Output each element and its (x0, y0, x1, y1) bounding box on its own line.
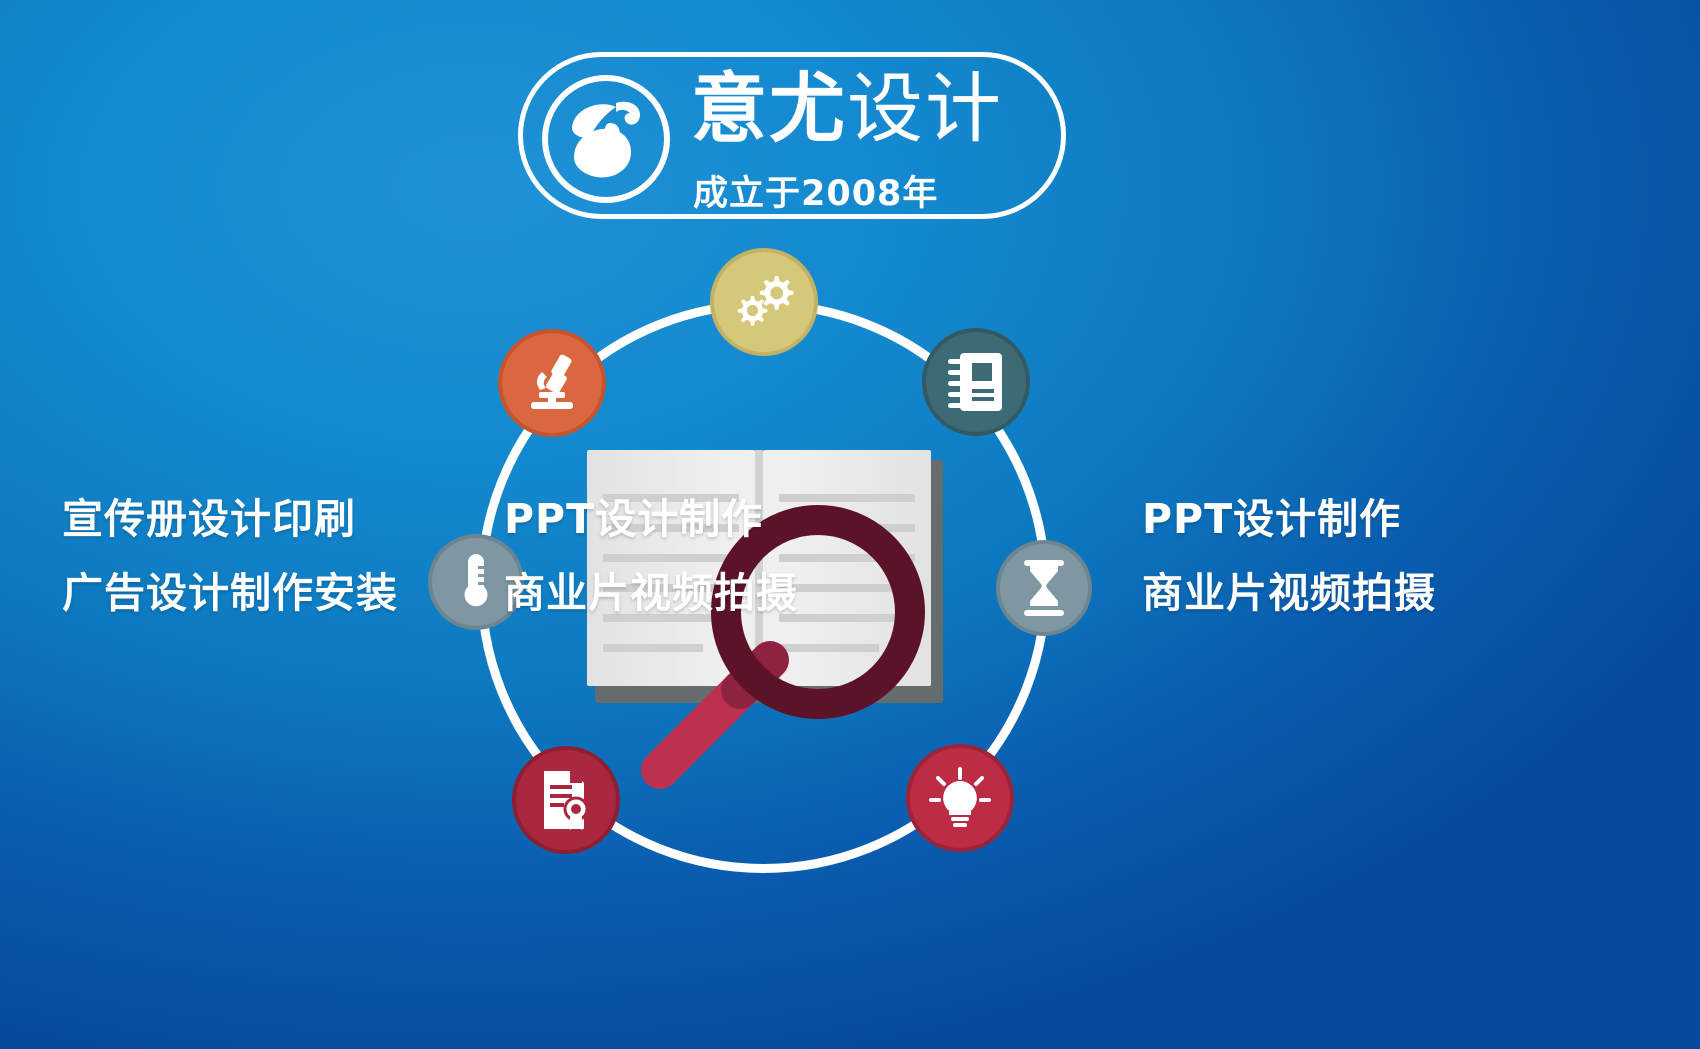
lightbulb-icon[interactable] (906, 744, 1014, 852)
microscope-icon[interactable] (498, 329, 606, 437)
logo-tagline: 成立于2008年 (693, 165, 938, 216)
services-right-line2: 商业片视频拍摄 (1142, 556, 1436, 630)
bird-leaf-icon (542, 75, 670, 203)
services-left-line2: 广告设计制作安装 (62, 556, 398, 630)
logo-badge: 意尤设计 成立于2008年 (518, 52, 1066, 219)
slide-canvas: 意尤设计 成立于2008年 (0, 0, 1700, 1049)
services-middle-line1: PPT设计制作 (504, 482, 798, 556)
services-middle-line2: 商业片视频拍摄 (504, 556, 798, 630)
gears-icon[interactable] (710, 248, 818, 356)
certificate-icon[interactable] (512, 746, 620, 854)
services-middle: PPT设计制作 商业片视频拍摄 (504, 482, 798, 630)
logo-brand-thin: 设计 (847, 64, 1003, 153)
services-right: PPT设计制作 商业片视频拍摄 (1142, 482, 1436, 630)
hourglass-icon[interactable] (996, 540, 1092, 636)
services-left: 宣传册设计印刷 广告设计制作安装 (62, 482, 398, 630)
logo-brand-bold: 意尤 (691, 64, 847, 153)
services-left-line1: 宣传册设计印刷 (62, 482, 398, 556)
services-right-line1: PPT设计制作 (1142, 482, 1436, 556)
notebook-icon[interactable] (922, 328, 1030, 436)
logo-text: 意尤设计 成立于2008年 (691, 69, 1051, 215)
